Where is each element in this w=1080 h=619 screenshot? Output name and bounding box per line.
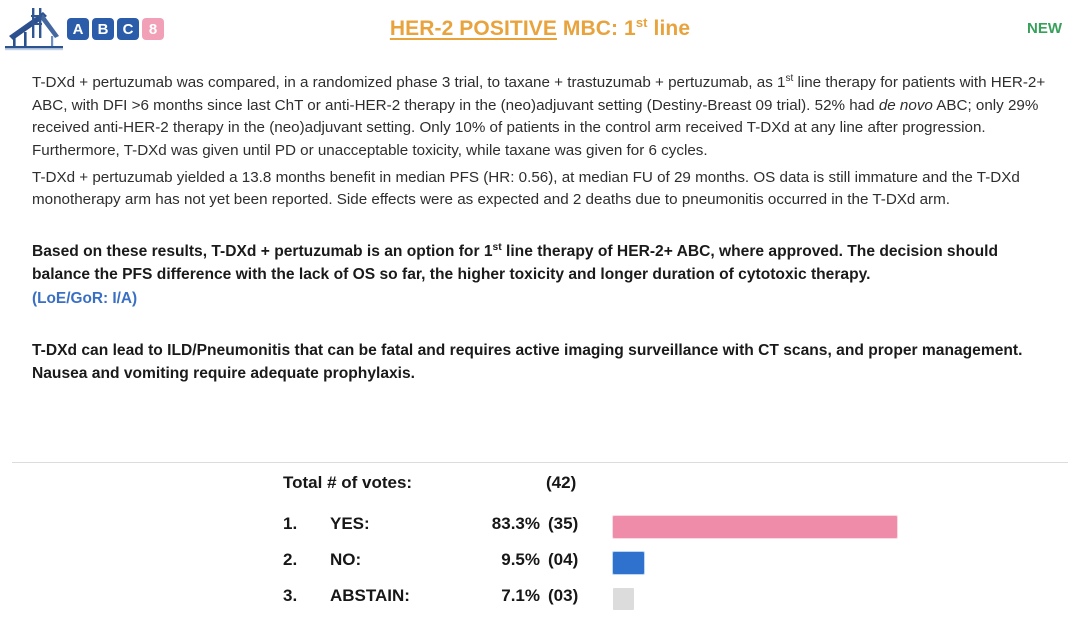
slide-header: A B C 8 HER-2 POSITIVE MBC: 1st line NEW [0,0,1080,58]
vote-row-no-percent: 9.5% [420,550,540,570]
vote-bar-yes [613,516,897,538]
paragraph-1-part-a: T-DXd + pertuzumab was compared, in a ra… [32,74,785,91]
vote-row-yes-number: 1. [283,514,297,534]
paragraph-results: T-DXd + pertuzumab yielded a 13.8 months… [32,167,1058,212]
vote-row-yes-percent: 83.3% [420,514,540,534]
voting-results: Total # of votes: (42) 1. YES: 83.3% (35… [0,470,1080,619]
page-title-superscript: st [636,15,648,30]
page-title-tail: line [648,17,691,40]
slide-content: T-DXd + pertuzumab was compared, in a ra… [32,72,1058,386]
vote-bar-no [613,552,644,574]
paragraph-safety-warning: T-DXd can lead to ILD/Pneumonitis that c… [32,339,1058,386]
page-title: HER-2 POSITIVE MBC: 1st line [0,15,1080,41]
vote-row-yes-label: YES: [330,514,370,534]
vote-row-abstain: 3. ABSTAIN: 7.1% (03) [0,586,1080,616]
page-title-rest: MBC: 1 [557,17,636,40]
vote-bar-abstain [613,588,634,610]
total-votes-label: Total # of votes: [283,473,412,493]
vote-row-abstain-count: (03) [548,586,578,606]
vote-row-abstain-percent: 7.1% [420,586,540,606]
vote-row-abstain-label: ABSTAIN: [330,586,410,606]
vote-row-no: 2. NO: 9.5% (04) [0,550,1080,580]
recommendation-part-a: Based on these results, T-DXd + pertuzum… [32,243,493,260]
paragraph-1-italic: de novo [879,97,933,114]
vote-row-yes: 1. YES: 83.3% (35) [0,514,1080,544]
vote-row-no-count: (04) [548,550,578,570]
section-divider [12,462,1068,463]
page-title-highlight: HER-2 POSITIVE [390,17,557,40]
paragraph-trial-summary: T-DXd + pertuzumab was compared, in a ra… [32,72,1058,163]
recommendation-superscript: st [493,242,502,253]
paragraph-recommendation: Based on these results, T-DXd + pertuzum… [32,240,1058,287]
loe-gor-label: (LoE/GoR: I/A) [32,288,1058,311]
new-badge: NEW [1027,20,1062,37]
vote-row-no-number: 2. [283,550,297,570]
vote-row-no-label: NO: [330,550,361,570]
total-votes-count: (42) [546,473,576,493]
vote-row-yes-count: (35) [548,514,578,534]
vote-row-abstain-number: 3. [283,586,297,606]
